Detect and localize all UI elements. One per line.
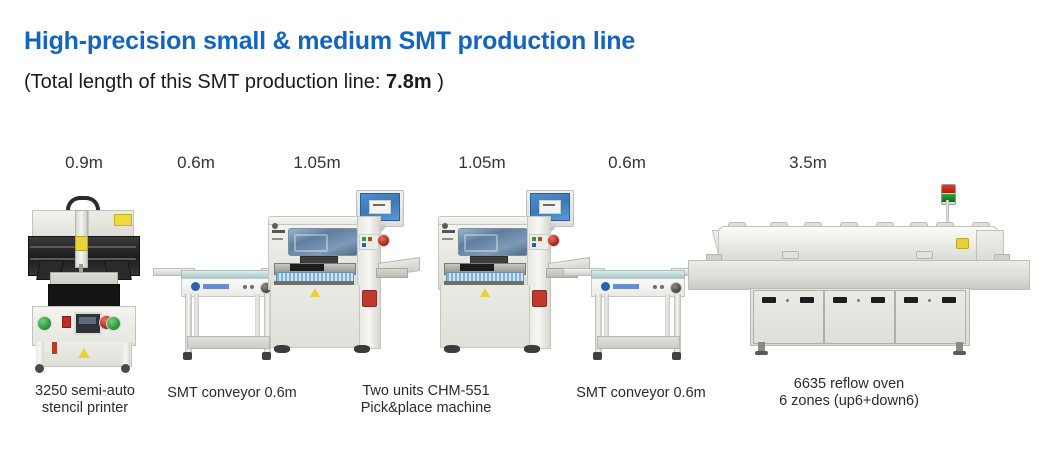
printer-leg-left xyxy=(36,342,44,366)
ppm2-placement-head xyxy=(460,264,494,271)
total-length-subtitle: (Total length of this SMT production lin… xyxy=(24,71,444,94)
caption-stencil-printer-line1: 3250 semi-auto xyxy=(35,383,135,400)
oven-conveyor-rail xyxy=(688,260,1030,290)
ppm1-emergency-stop-button[interactable] xyxy=(377,234,390,247)
ppm1-brand-text xyxy=(272,230,285,233)
dimension-label-conveyor-2: 0.6m xyxy=(608,153,646,173)
conveyor2-foot-right xyxy=(672,352,681,360)
smt-production-line-infographic: High-precision small & medium SMT produc… xyxy=(0,0,1060,450)
machine-stencil-printer xyxy=(22,196,144,374)
printer-side-switch xyxy=(52,342,57,354)
ppm1-foot-right xyxy=(354,345,370,353)
conveyor1-foot-left xyxy=(183,352,192,360)
ppm2-brand-text xyxy=(442,230,455,233)
conveyor2-brand-text xyxy=(613,284,639,289)
caption-conveyor-2-line1: SMT conveyor 0.6m xyxy=(576,385,705,402)
oven-door-handle-3b[interactable] xyxy=(942,297,956,303)
printer-stop-button[interactable] xyxy=(62,316,71,328)
page-title: High-precision small & medium SMT produc… xyxy=(24,27,635,56)
conveyor1-brand-logo-icon xyxy=(191,282,200,291)
oven-door-lock-1 xyxy=(786,299,789,302)
ppm2-foot-left xyxy=(444,345,460,353)
printer-caster-left xyxy=(35,364,44,373)
conveyor2-speed-knob[interactable] xyxy=(670,282,682,294)
dimension-label-pick-place-1: 1.05m xyxy=(293,153,340,173)
ppm2-side-emergency-button[interactable] xyxy=(532,290,547,307)
caption-reflow-oven: 6635 reflow oven 6 zones (up6+down6) xyxy=(779,376,919,410)
conveyor2-indicator-2 xyxy=(660,285,664,289)
caption-pick-place-line2: Pick&place machine xyxy=(361,400,492,417)
dimension-label-stencil-printer: 0.9m xyxy=(65,153,103,173)
ppm1-hazard-triangle-icon xyxy=(310,288,320,297)
total-length-value: 7.8m xyxy=(386,71,432,93)
ppm1-view-window xyxy=(288,228,358,256)
ppm1-placement-head xyxy=(290,264,324,271)
oven-door-lock-3 xyxy=(928,299,931,302)
printer-caster-right xyxy=(121,364,130,373)
oven-door-lock-2 xyxy=(857,299,860,302)
ppm1-side-emergency-button[interactable] xyxy=(362,290,377,307)
oven-door-handle-2b[interactable] xyxy=(871,297,885,303)
machine-reflow-oven xyxy=(688,182,1038,374)
conveyor2-brand-logo-icon xyxy=(601,282,610,291)
caption-reflow-oven-line2: 6 zones (up6+down6) xyxy=(779,393,919,410)
ppm1-brand-logo-icon xyxy=(272,223,278,229)
caption-conveyor-1-line1: SMT conveyor 0.6m xyxy=(167,385,296,402)
oven-warning-sticker xyxy=(956,238,969,249)
caption-stencil-printer: 3250 semi-auto stencil printer xyxy=(35,383,135,417)
machine-pick-place-1 xyxy=(258,190,416,372)
oven-hood-latch-1[interactable] xyxy=(782,251,799,259)
oven-foot-left xyxy=(758,342,765,354)
subtitle-prefix: (Total length of this SMT production lin… xyxy=(24,71,386,93)
caption-stencil-printer-line2: stencil printer xyxy=(35,400,135,417)
oven-door-handle-1b[interactable] xyxy=(800,297,814,303)
conveyor2-lower-shelf xyxy=(597,336,680,349)
ppm1-button-panel[interactable] xyxy=(359,234,379,250)
ppm1-foot-left xyxy=(274,345,290,353)
caption-conveyor-1: SMT conveyor 0.6m xyxy=(167,385,296,402)
oven-door-handle-1a[interactable] xyxy=(762,297,776,303)
ppm2-view-window xyxy=(458,228,528,256)
conveyor2-indicator-1 xyxy=(653,285,657,289)
ppm2-model-text xyxy=(442,238,453,240)
machine-conveyor-2 xyxy=(575,256,697,374)
printer-hmi-screen[interactable] xyxy=(74,312,102,335)
conveyor1-indicator-1 xyxy=(243,285,247,289)
caption-reflow-oven-line1: 6635 reflow oven xyxy=(779,376,919,393)
conveyor1-brand-text xyxy=(203,284,229,289)
printer-leg-right xyxy=(122,342,130,366)
oven-door-handle-2a[interactable] xyxy=(833,297,847,303)
ppm1-model-text xyxy=(272,238,283,240)
dimension-label-pick-place-2: 1.05m xyxy=(458,153,505,173)
ppm2-foot-right xyxy=(524,345,540,353)
caption-pick-place: Two units CHM-551 Pick&place machine xyxy=(361,383,492,417)
oven-hood-latch-2[interactable] xyxy=(916,251,933,259)
conveyor2-foot-left xyxy=(593,352,602,360)
oven-door-handle-3a[interactable] xyxy=(904,297,918,303)
caption-pick-place-line1: Two units CHM-551 xyxy=(361,383,492,400)
printer-warning-sticker xyxy=(114,214,132,226)
printer-start-button-left[interactable] xyxy=(37,316,52,331)
caption-conveyor-2: SMT conveyor 0.6m xyxy=(576,385,705,402)
ppm2-brand-logo-icon xyxy=(442,223,448,229)
printer-start-button-right[interactable] xyxy=(106,316,121,331)
ppm2-button-panel[interactable] xyxy=(529,234,549,250)
ppm1-tray-shelf xyxy=(376,268,408,278)
subtitle-suffix: ) xyxy=(432,71,444,93)
dimension-label-reflow-oven: 3.5m xyxy=(789,153,827,173)
dimension-label-conveyor-1: 0.6m xyxy=(177,153,215,173)
conveyor1-indicator-2 xyxy=(250,285,254,289)
ppm2-hazard-triangle-icon xyxy=(480,288,490,297)
printer-hazard-triangle-icon xyxy=(78,348,90,358)
machine-pick-place-2 xyxy=(428,190,586,372)
oven-foot-right xyxy=(956,342,963,354)
ppm2-emergency-stop-button[interactable] xyxy=(547,234,560,247)
printer-mast-label xyxy=(75,236,88,251)
